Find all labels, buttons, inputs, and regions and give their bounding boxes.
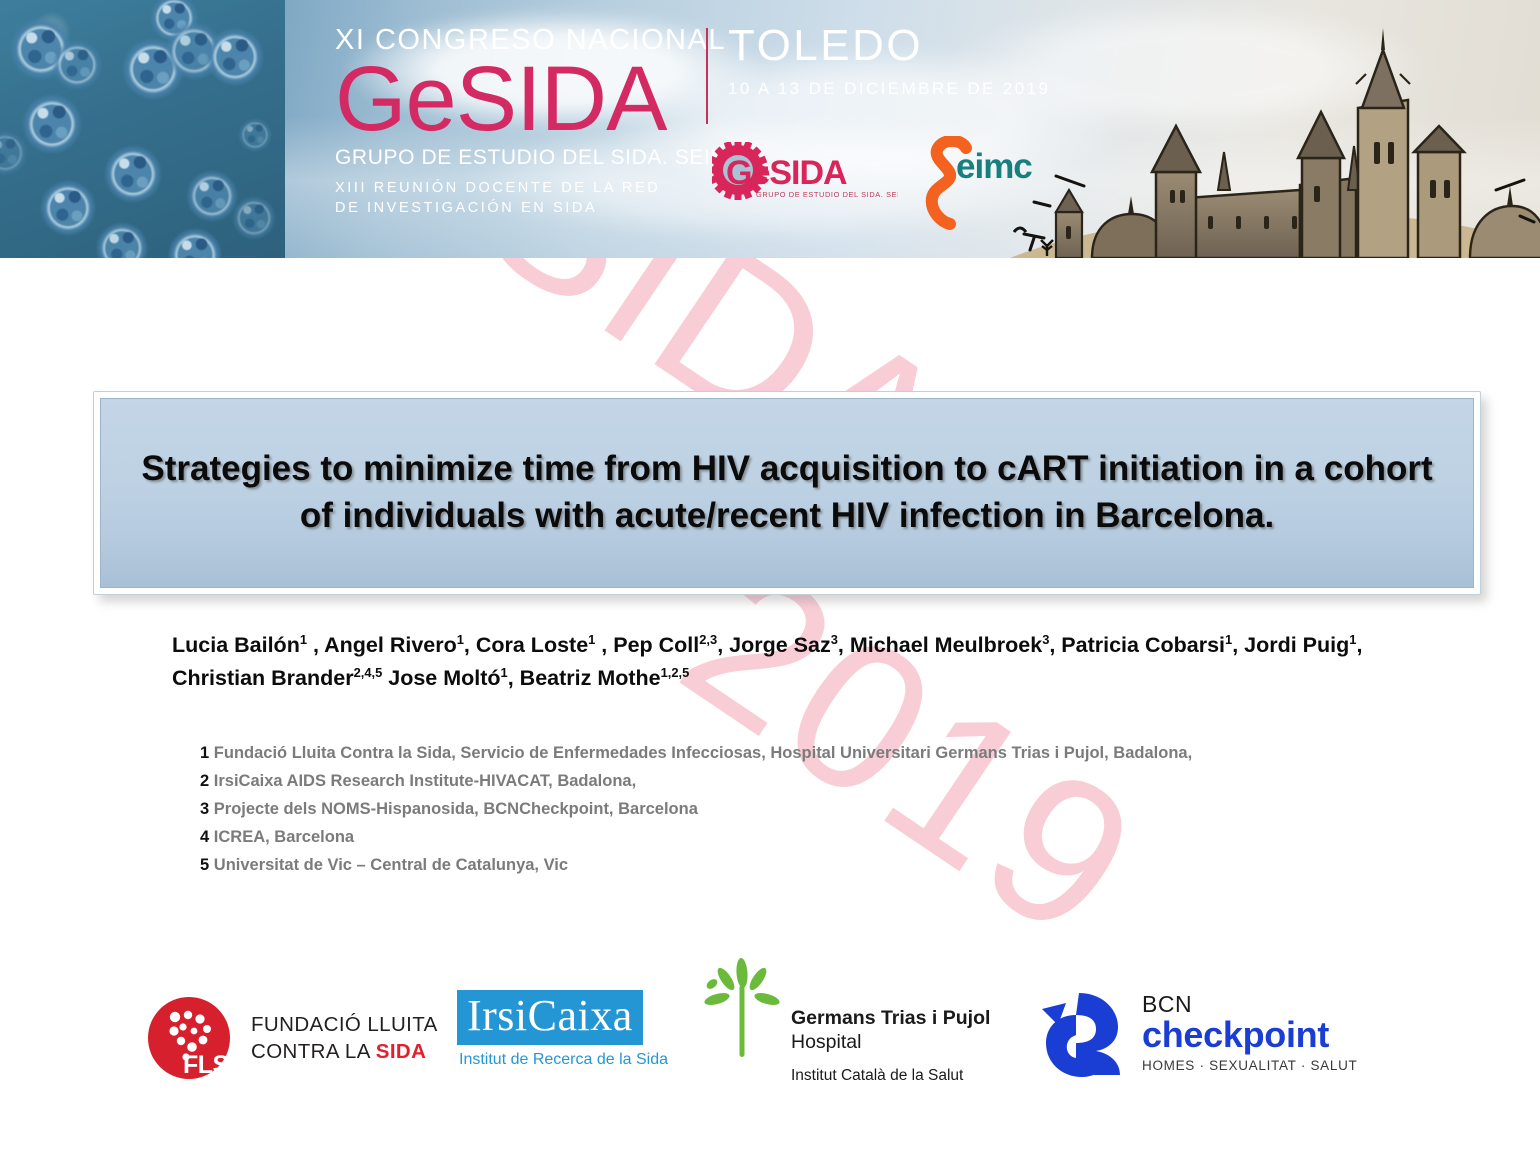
banner-title-block: XI CONGRESO NACIONAL GeSIDA GRUPO DE EST… [335,24,744,218]
fls-line-2-sida: SIDA [376,1040,427,1063]
affiliation-number: 2 [200,772,209,790]
gesida-wordmark: GeSIDA [335,61,744,138]
affiliation-text: Universitat de Vic – Central de Cataluny… [214,856,568,874]
affiliation-number: 4 [200,828,209,846]
svg-text:GRUPO DE ESTUDIO DEL SIDA. SEI: GRUPO DE ESTUDIO DEL SIDA. SEIMC [756,190,898,199]
poster-page: XI CONGRESO NACIONAL GeSIDA GRUPO DE EST… [0,0,1540,1155]
page-title: Strategies to minimize time from HIV acq… [101,446,1473,539]
banner-city-block: TOLEDO 10 A 13 DE DICIEMBRE DE 2019 [728,24,1050,99]
fls-wordmark: FUNDACIÓ LLUITA CONTRA LA SIDA [251,1011,438,1065]
logo-bcn-checkpoint: BCN checkpoint HOMES · SEXUALITAT · SALU… [1032,985,1358,1081]
affiliation-row: 3 Projecte dels NOMS-Hispanosida, BCNChe… [200,795,1380,823]
gtp-line-2: Hospital [791,1031,990,1054]
affiliation-text: ICREA, Barcelona [214,828,354,846]
sponsor-logo-row: FLS FUNDACIÓ LLUITA CONTRA LA SIDA IrsiC… [0,950,1540,1110]
toledo-skyline-illustration [1000,0,1540,258]
title-box-frame: Strategies to minimize time from HIV acq… [93,391,1481,595]
gesida-subtitle: GRUPO DE ESTUDIO DEL SIDA. SEIMC [335,146,744,170]
poster-title-box: Strategies to minimize time from HIV acq… [93,391,1481,595]
irsicaixa-badge: IrsiCaixa [457,990,643,1045]
bcn-line-3: HOMES · SEXUALITAT · SALUT [1142,1058,1358,1073]
virus-photo-background [0,0,285,258]
affiliation-number: 3 [200,800,209,818]
affiliation-row: 2 IrsiCaixa AIDS Research Institute-HIVA… [200,767,1380,795]
gtp-line-1: Germans Trias i Pujol [791,1007,990,1030]
affiliation-number: 5 [200,856,209,874]
title-box-fill: Strategies to minimize time from HIV acq… [100,398,1474,588]
affiliation-text: Projecte dels NOMS-Hispanosida, BCNCheck… [214,800,698,818]
affiliation-row: 5 Universitat de Vic – Central de Catalu… [200,851,1380,879]
gtp-tree-icon [703,955,781,1063]
irsicaixa-wordmark: IrsiCaixa [467,992,633,1040]
bcn-checkpoint-mark-icon [1032,985,1128,1081]
fls-line-2-prefix: CONTRA LA [251,1040,376,1063]
fls-line-1: FUNDACIÓ LLUITA [251,1011,438,1038]
svg-text:FLS: FLS [183,1051,229,1079]
logo-germans-trias-i-pujol: Germans Trias i Pujol Hospital Institut … [703,955,990,1085]
logo-fundacio-lluita-contra-la-sida: FLS FUNDACIÓ LLUITA CONTRA LA SIDA [145,995,438,1081]
gesida-logo-icon: GeSIDA GRUPO DE ESTUDIO DEL SIDA. SEIMC [712,142,898,204]
gtp-line-3: Institut Català de la Salut [791,1067,990,1085]
affiliation-row: 4 ICREA, Barcelona [200,823,1380,851]
bcn-line-1: BCN [1142,993,1358,1016]
bcn-line-2: checkpoint [1142,1017,1358,1054]
svg-text:GeSIDA: GeSIDA [726,154,847,192]
bcn-wordmark: BCN checkpoint HOMES · SEXUALITAT · SALU… [1142,993,1358,1073]
conference-dates: 10 A 13 DE DICIEMBRE DE 2019 [728,79,1050,99]
meeting-line-2: DE INVESTIGACIÓN EN SIDA [335,199,744,219]
city-name: TOLEDO [728,24,1050,68]
affiliation-row: 1 Fundació Lluita Contra la Sida, Servic… [200,739,1380,767]
irsicaixa-tagline: Institut de Recerca de la Sida [459,1051,668,1069]
conference-banner: XI CONGRESO NACIONAL GeSIDA GRUPO DE EST… [0,0,1540,258]
fls-line-2: CONTRA LA SIDA [251,1038,438,1065]
author-list: Lucia Bailón1 , Angel Rivero1, Cora Lost… [172,629,1412,696]
meeting-line-1: XIII REUNIÓN DOCENTE DE LA RED [335,179,744,199]
affiliation-text: IrsiCaixa AIDS Research Institute-HIVACA… [214,772,636,790]
gesida-meeting-subtitle: XIII REUNIÓN DOCENTE DE LA RED DE INVEST… [335,179,744,218]
banner-divider [706,28,708,124]
affiliation-number: 1 [200,744,209,762]
logo-irsicaixa: IrsiCaixa Institut de Recerca de la Sida [457,990,668,1069]
seimc-logo-icon: eimc [922,136,1046,232]
svg-text:eimc: eimc [956,147,1032,186]
gtp-wordmark: Germans Trias i Pujol Hospital Institut … [791,1007,990,1085]
affiliation-list: 1 Fundació Lluita Contra la Sida, Servic… [200,739,1380,879]
affiliation-text: Fundació Lluita Contra la Sida, Servicio… [214,744,1192,762]
fls-mark-icon: FLS [145,995,237,1081]
